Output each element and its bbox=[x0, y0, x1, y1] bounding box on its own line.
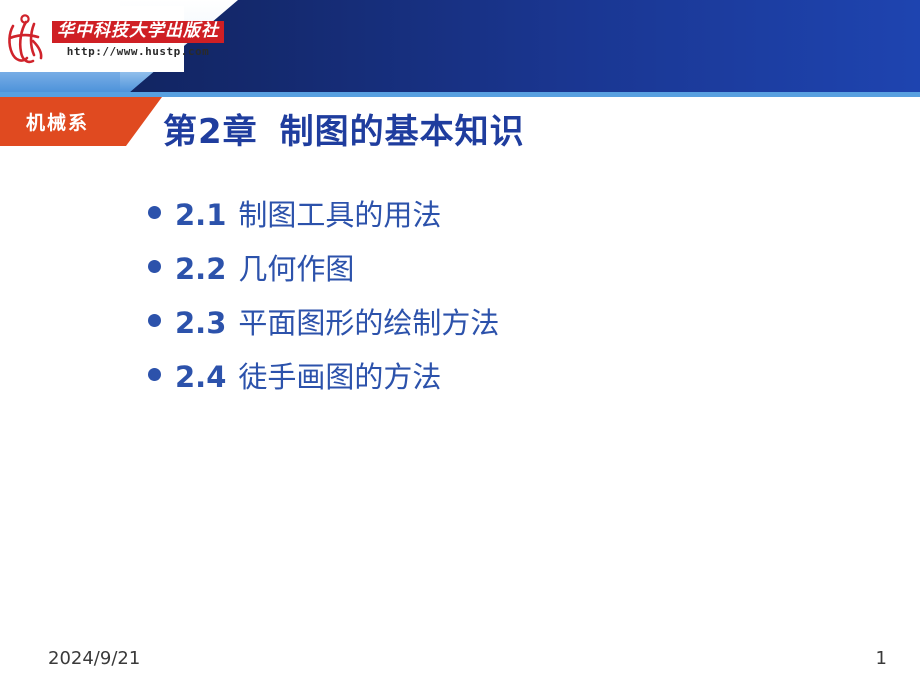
publisher-logo-mark-icon bbox=[0, 8, 52, 70]
publisher-logo: 华中科技大学出版社 http://www.hustp.com bbox=[0, 6, 184, 72]
slide-title-name: 制图的基本知识 bbox=[280, 112, 525, 152]
list-item[interactable]: 2.4 徒手画图的方法 bbox=[148, 354, 848, 408]
publisher-logo-text: 华中科技大学出版社 http://www.hustp.com bbox=[52, 21, 224, 57]
outline-item-number: 2.2 bbox=[175, 252, 226, 286]
list-item[interactable]: 2.1 制图工具的用法 bbox=[148, 192, 848, 246]
bullet-dot-icon bbox=[148, 206, 161, 219]
bullet-dot-icon bbox=[148, 260, 161, 273]
department-badge-label: 机械系 bbox=[0, 108, 89, 135]
publisher-url: http://www.hustp.com bbox=[52, 46, 224, 57]
presentation-slide: 华中科技大学出版社 http://www.hustp.com 机械系 第2章制图… bbox=[0, 0, 920, 690]
outline-item-label: 平面图形的绘制方法 bbox=[238, 300, 499, 342]
outline-list: 2.1 制图工具的用法 2.2 几何作图 2.3 平面图形的绘制方法 2.4 徒… bbox=[148, 192, 848, 408]
outline-item-number: 2.1 bbox=[175, 198, 226, 232]
publisher-name-cn: 华中科技大学出版社 bbox=[52, 21, 224, 43]
bullet-dot-icon bbox=[148, 314, 161, 327]
outline-item-number: 2.3 bbox=[175, 306, 226, 340]
outline-item-label: 几何作图 bbox=[238, 246, 354, 288]
bullet-dot-icon bbox=[148, 368, 161, 381]
list-item[interactable]: 2.3 平面图形的绘制方法 bbox=[148, 300, 848, 354]
outline-item-number: 2.4 bbox=[175, 360, 226, 394]
list-item[interactable]: 2.2 几何作图 bbox=[148, 246, 848, 300]
banner-underline-rule bbox=[0, 92, 920, 97]
footer-page-number: 1 bbox=[876, 648, 887, 669]
department-badge: 机械系 bbox=[0, 97, 162, 146]
slide-title: 第2章制图的基本知识 bbox=[163, 104, 525, 153]
slide-title-chapter: 第2章 bbox=[163, 112, 258, 152]
outline-item-label: 徒手画图的方法 bbox=[238, 354, 441, 396]
footer-date: 2024/9/21 bbox=[48, 648, 140, 669]
outline-item-label: 制图工具的用法 bbox=[238, 192, 441, 234]
